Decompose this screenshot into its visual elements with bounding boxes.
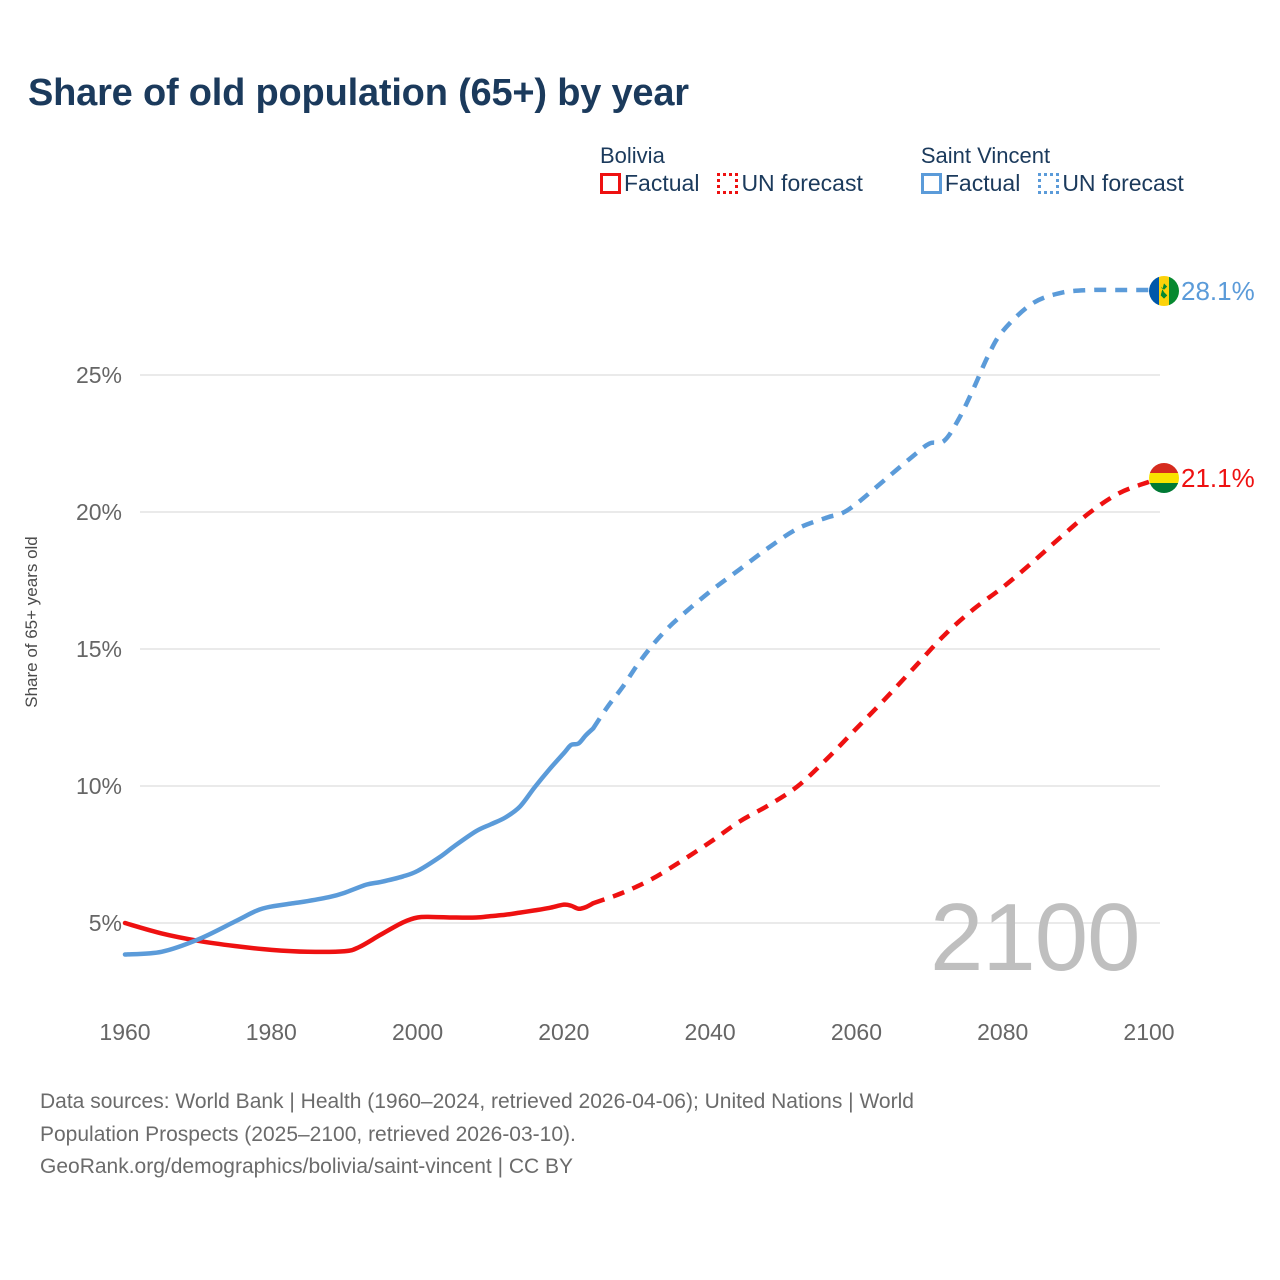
line-chart-svg: 5%10%15%20%25% 1960198020002020204020602… [0, 0, 1280, 1060]
bolivia-flag-icon [1149, 463, 1179, 493]
footer-line-3: GeoRank.org/demographics/bolivia/saint-v… [40, 1151, 1240, 1184]
x-tick-label-1960: 1960 [99, 1019, 150, 1045]
end-label-saint-vincent: 28.1% [1149, 276, 1255, 306]
x-tick-label-2080: 2080 [977, 1019, 1028, 1045]
x-tick-label-2040: 2040 [685, 1019, 736, 1045]
y-tick-label-10%: 10% [76, 773, 122, 799]
x-tick-label-1980: 1980 [246, 1019, 297, 1045]
y-tick-label-5%: 5% [89, 910, 122, 936]
y-tick-label-20%: 20% [76, 499, 122, 525]
series-lines-group [125, 290, 1149, 955]
x-tick-label-2100: 2100 [1123, 1019, 1174, 1045]
y-axis-label: Share of 65+ years old [22, 482, 42, 762]
chart-plot-area: 5%10%15%20%25% 1960198020002020204020602… [0, 0, 1280, 1060]
gridlines-group [140, 375, 1160, 923]
x-tick-label-2000: 2000 [392, 1019, 443, 1045]
footer-line-2: Population Prospects (2025–2100, retriev… [40, 1119, 1240, 1152]
series-line-bolivia-forecast [593, 482, 1149, 903]
end-value-saint-vincent: 28.1% [1181, 278, 1255, 304]
series-line-bolivia-factual [125, 903, 593, 952]
series-line-saint-vincent-factual [125, 728, 593, 954]
series-line-saint-vincent-forecast [593, 290, 1149, 729]
x-tick-label-2020: 2020 [538, 1019, 589, 1045]
footer-line-1: Data sources: World Bank | Health (1960–… [40, 1086, 1240, 1119]
saint-vincent-flag-icon [1149, 276, 1179, 306]
end-value-bolivia: 21.1% [1181, 465, 1255, 491]
y-tick-label-25%: 25% [76, 362, 122, 388]
x-tick-label-2060: 2060 [831, 1019, 882, 1045]
end-label-bolivia: 21.1% [1149, 463, 1255, 493]
y-axis-ticks-group: 5%10%15%20%25% [76, 362, 122, 936]
x-axis-ticks-group: 19601980200020202040206020802100 [99, 1019, 1174, 1045]
y-tick-label-15%: 15% [76, 636, 122, 662]
footer-sources: Data sources: World Bank | Health (1960–… [40, 1086, 1240, 1184]
